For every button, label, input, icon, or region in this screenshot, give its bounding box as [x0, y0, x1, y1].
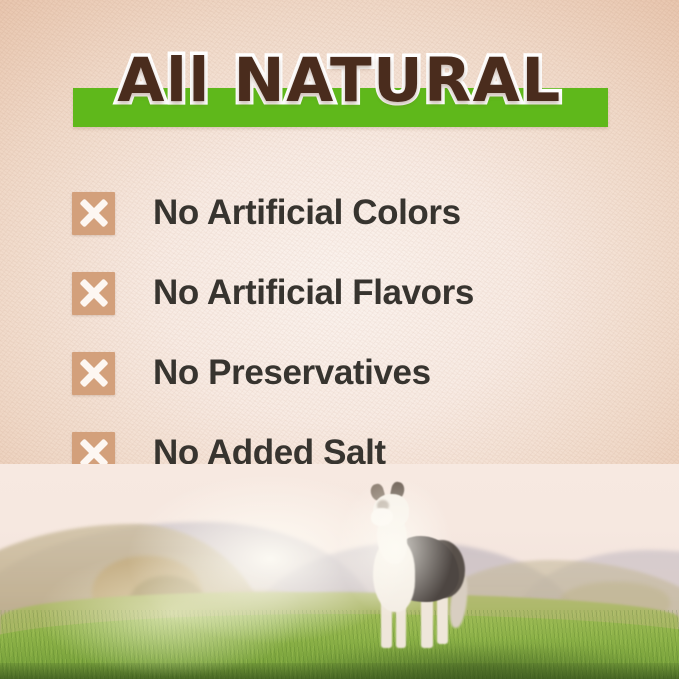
list-item: No Artificial Colors — [72, 173, 632, 253]
x-mark-icon — [72, 272, 115, 315]
grass-foreground-shade — [0, 663, 679, 679]
x-mark-icon — [72, 352, 115, 395]
feature-list: No Artificial Colors No Artificial Flavo… — [72, 173, 632, 493]
feature-label: No Artificial Flavors — [153, 273, 474, 313]
list-item: No Preservatives — [72, 333, 632, 413]
product-feature-poster: All NATURAL No Artificial Colors No Arti… — [0, 0, 679, 679]
page-title: All NATURAL — [0, 48, 679, 114]
feature-label: No Artificial Colors — [153, 193, 461, 233]
list-item: No Artificial Flavors — [72, 253, 632, 333]
x-mark-icon — [72, 192, 115, 235]
dog-illustration — [355, 482, 475, 660]
landscape-photo — [0, 464, 679, 679]
feature-label: No Preservatives — [153, 353, 431, 393]
